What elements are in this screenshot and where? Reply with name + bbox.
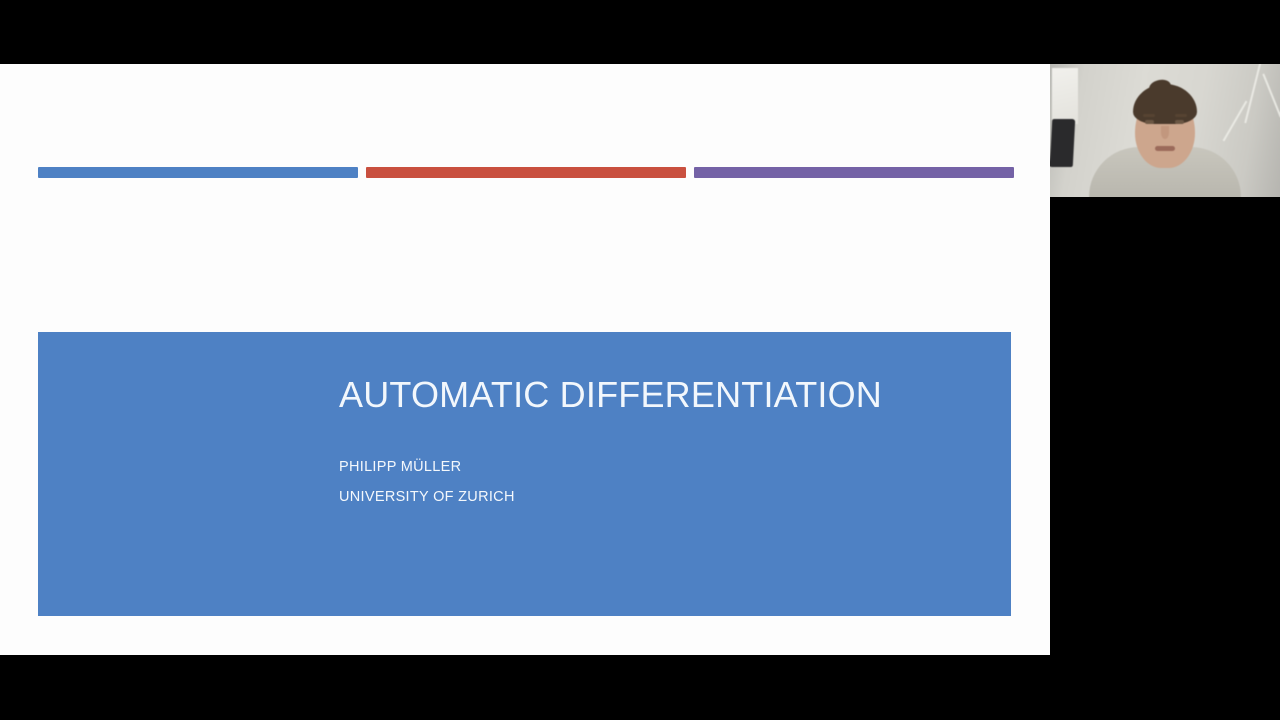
accent-bar-blue bbox=[38, 167, 358, 178]
person-eye-left bbox=[1145, 120, 1154, 124]
accent-bar-red bbox=[366, 167, 686, 178]
person-eye-right bbox=[1175, 120, 1184, 124]
webcam-person bbox=[1050, 64, 1280, 197]
presenter-webcam-feed bbox=[1050, 64, 1280, 197]
letterbox-top bbox=[0, 0, 1280, 64]
presenter-name: PHILIPP MÜLLER bbox=[339, 459, 461, 475]
accent-bar-purple bbox=[694, 167, 1014, 178]
person-mouth bbox=[1155, 146, 1175, 151]
person-eyebrow-right bbox=[1175, 114, 1187, 117]
presentation-slide: AUTOMATIC DIFFERENTIATION PHILIPP MÜLLER… bbox=[0, 64, 1050, 655]
page-title: AUTOMATIC DIFFERENTIATION bbox=[339, 374, 882, 416]
video-player-screen: AUTOMATIC DIFFERENTIATION PHILIPP MÜLLER… bbox=[0, 0, 1280, 720]
person-nose bbox=[1161, 126, 1169, 139]
letterbox-bottom bbox=[0, 655, 1280, 720]
title-block: AUTOMATIC DIFFERENTIATION PHILIPP MÜLLER… bbox=[38, 332, 1011, 616]
presenter-affiliation: UNIVERSITY OF ZURICH bbox=[339, 489, 515, 505]
person-eyebrow-left bbox=[1143, 114, 1155, 117]
